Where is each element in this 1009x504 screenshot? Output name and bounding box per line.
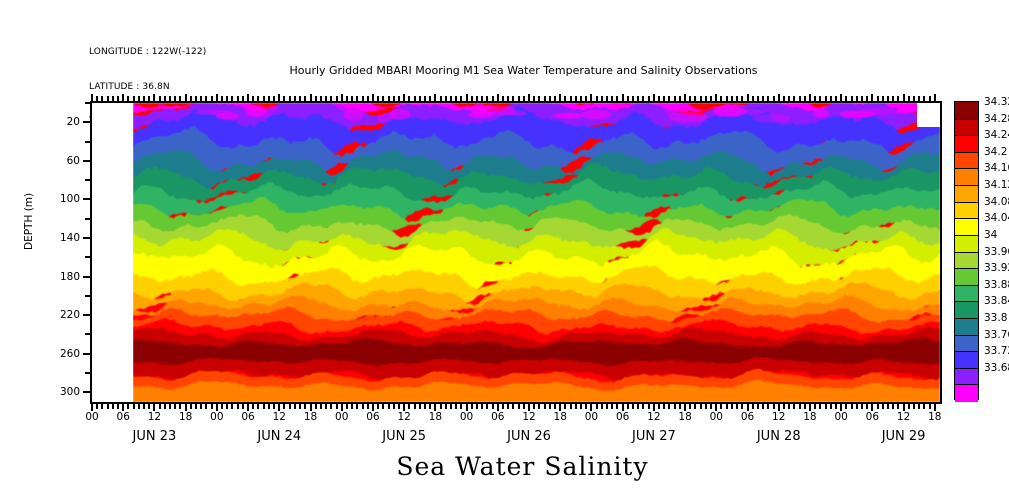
x-tick-minor	[804, 402, 806, 409]
y-axis-title: DEPTH (m)	[23, 193, 35, 250]
surface-low-salinity-patch	[217, 113, 240, 120]
colorbar-separator	[955, 318, 978, 319]
x-tick-minor	[897, 402, 899, 409]
x-tick-top	[450, 96, 452, 103]
x-tick-top	[257, 96, 259, 103]
x-tick-top	[91, 94, 93, 103]
x-tick-major	[153, 402, 155, 411]
x-tick-top	[840, 94, 842, 103]
x-tick-top	[762, 96, 764, 103]
x-tick-top	[538, 96, 540, 103]
x-tick-top	[179, 96, 181, 103]
x-tick-minor	[606, 402, 608, 409]
x-tick-minor	[731, 402, 733, 409]
x-tick-major	[247, 402, 249, 411]
x-tick-top	[507, 96, 509, 103]
x-tick-minor	[835, 402, 837, 409]
x-tick-top	[934, 94, 936, 103]
y-tick-minor	[85, 141, 92, 143]
x-tick-top	[96, 96, 98, 103]
x-tick-major	[684, 402, 686, 411]
x-tick-top	[637, 96, 639, 103]
x-tick-top	[304, 96, 306, 103]
x-tick-top	[367, 96, 369, 103]
x-tick-top	[773, 96, 775, 103]
y-tick-major	[83, 391, 92, 393]
x-tick-top	[434, 94, 436, 103]
x-tick-minor	[408, 402, 410, 409]
longitude-text: LONGITUDE : 122W(-122)	[89, 47, 206, 59]
x-tick-minor	[694, 402, 696, 409]
y-tick-label: 140	[60, 232, 80, 244]
x-tick-top	[575, 96, 577, 103]
x-tick-minor	[450, 402, 452, 409]
x-tick-minor	[642, 402, 644, 409]
x-tick-minor	[908, 402, 910, 409]
x-tick-top	[263, 96, 265, 103]
x-tick-top	[221, 96, 223, 103]
x-tick-major	[715, 402, 717, 411]
x-tick-minor	[866, 402, 868, 409]
x-tick-top	[414, 96, 416, 103]
colorbar-separator	[955, 268, 978, 269]
x-tick-top	[892, 96, 894, 103]
x-tick-top	[174, 96, 176, 103]
y-tick-minor	[85, 218, 92, 220]
x-tick-minor	[674, 402, 676, 409]
x-tick-minor	[257, 402, 259, 409]
x-tick-top	[903, 94, 905, 103]
x-tick-top	[455, 96, 457, 103]
x-tick-minor	[362, 402, 364, 409]
colorbar-separator	[955, 301, 978, 302]
x-tick-top	[882, 96, 884, 103]
colorbar-band	[955, 335, 978, 352]
x-tick-top	[897, 96, 899, 103]
chart-title: Hourly Gridded MBARI Mooring M1 Sea Wate…	[0, 64, 1009, 77]
x-tick-top	[929, 96, 931, 103]
x-tick-top	[601, 96, 603, 103]
x-tick-top	[408, 96, 410, 103]
x-tick-top	[793, 96, 795, 103]
x-tick-top	[720, 96, 722, 103]
x-tick-top	[804, 96, 806, 103]
x-tick-top	[289, 96, 291, 103]
x-tick-minor	[237, 402, 239, 409]
x-tick-label: 12	[772, 411, 785, 423]
y-tick-label: 100	[60, 193, 80, 205]
x-tick-label: 00	[460, 411, 473, 423]
colorbar-tick-label: 34.24	[984, 129, 1009, 141]
x-tick-minor	[101, 402, 103, 409]
x-tick-top	[346, 96, 348, 103]
x-tick-top	[294, 96, 296, 103]
x-tick-minor	[195, 402, 197, 409]
x-tick-minor	[705, 402, 707, 409]
x-tick-top	[668, 96, 670, 103]
colorbar-band	[955, 152, 978, 169]
x-tick-top	[674, 96, 676, 103]
x-tick-major	[778, 402, 780, 411]
colorbar-band	[955, 351, 978, 368]
x-tick-top	[419, 96, 421, 103]
x-tick-minor	[773, 402, 775, 409]
x-tick-top	[429, 96, 431, 103]
colorbar-separator	[955, 351, 978, 352]
colorbar-separator	[955, 335, 978, 336]
x-tick-label: 00	[85, 411, 98, 423]
x-tick-top	[622, 94, 624, 103]
x-tick-minor	[799, 402, 801, 409]
x-tick-major	[934, 402, 936, 411]
colorbar-tick-label: 34	[984, 229, 997, 241]
y-tick-label: 220	[60, 309, 80, 321]
x-tick-top	[101, 96, 103, 103]
x-tick-minor	[242, 402, 244, 409]
x-tick-minor	[294, 402, 296, 409]
x-tick-label: 00	[834, 411, 847, 423]
x-tick-major	[871, 402, 873, 411]
variable-title-text: Sea Water Salinity	[396, 452, 648, 481]
x-tick-top	[424, 96, 426, 103]
x-tick-minor	[918, 402, 920, 409]
x-tick-top	[741, 96, 743, 103]
x-tick-label: 12	[148, 411, 161, 423]
x-day-label: JUN 27	[632, 429, 676, 444]
colorbar-tick-label: 33.72	[984, 345, 1009, 357]
x-tick-top	[726, 96, 728, 103]
x-tick-label: 18	[304, 411, 317, 423]
x-tick-minor	[554, 402, 556, 409]
x-tick-minor	[658, 402, 660, 409]
x-tick-top	[377, 96, 379, 103]
x-tick-minor	[455, 402, 457, 409]
x-tick-top	[372, 94, 374, 103]
y-tick-minor	[85, 179, 92, 181]
x-tick-minor	[320, 402, 322, 409]
x-tick-top	[835, 96, 837, 103]
x-tick-label: 12	[897, 411, 910, 423]
x-tick-top	[231, 96, 233, 103]
x-tick-minor	[486, 402, 488, 409]
x-tick-minor	[476, 402, 478, 409]
x-day-label: JUN 28	[757, 429, 801, 444]
surface-low-salinity-patch	[744, 109, 763, 115]
x-tick-top	[497, 94, 499, 103]
x-tick-top	[356, 96, 358, 103]
x-tick-minor	[96, 402, 98, 409]
x-tick-minor	[632, 402, 634, 409]
x-tick-minor	[523, 402, 525, 409]
x-tick-top	[512, 96, 514, 103]
x-tick-minor	[138, 402, 140, 409]
x-tick-top	[757, 96, 759, 103]
surface-low-salinity-patch	[668, 112, 708, 123]
x-tick-top	[268, 96, 270, 103]
colorbar-separator	[955, 235, 978, 236]
x-tick-top	[684, 94, 686, 103]
x-tick-minor	[336, 402, 338, 409]
x-tick-minor	[388, 402, 390, 409]
x-tick-minor	[814, 402, 816, 409]
colorbar-tick-label: 34.16	[984, 162, 1009, 174]
x-tick-minor	[304, 402, 306, 409]
x-tick-top	[809, 94, 811, 103]
x-tick-minor	[736, 402, 738, 409]
x-tick-minor	[544, 402, 546, 409]
x-tick-major	[840, 402, 842, 411]
surface-low-salinity-patch	[554, 113, 585, 119]
surface-low-salinity-patch	[245, 111, 273, 118]
x-tick-label: 06	[366, 411, 379, 423]
x-tick-minor	[929, 402, 931, 409]
colorbar-tick-label: 34.08	[984, 196, 1009, 208]
y-tick-major	[83, 276, 92, 278]
variable-title: Sea Water Salinity	[0, 452, 1009, 481]
x-tick-top	[830, 96, 832, 103]
colorbar-band	[955, 119, 978, 136]
x-tick-major	[622, 402, 624, 411]
x-tick-top	[169, 96, 171, 103]
surface-low-salinity-patch	[158, 103, 166, 107]
x-tick-minor	[825, 402, 827, 409]
y-tick-label: 60	[67, 155, 80, 167]
colorbar-tick-label: 33.84	[984, 295, 1009, 307]
colorbar-tick-label: 33.96	[984, 246, 1009, 258]
x-tick-minor	[923, 402, 925, 409]
x-tick-top	[112, 96, 114, 103]
x-tick-minor	[861, 402, 863, 409]
x-tick-top	[851, 96, 853, 103]
x-tick-minor	[398, 402, 400, 409]
y-tick-minor	[85, 372, 92, 374]
x-tick-major	[809, 402, 811, 411]
x-tick-top	[648, 96, 650, 103]
x-tick-top	[825, 96, 827, 103]
y-tick-major	[83, 237, 92, 239]
x-tick-label: 00	[710, 411, 723, 423]
colorbar-tick-label: 34.12	[984, 179, 1009, 191]
x-tick-major	[122, 402, 124, 411]
colorbar-tick-label: 34.28	[984, 113, 1009, 125]
x-tick-top	[195, 96, 197, 103]
x-tick-minor	[700, 402, 702, 409]
colorbar-band	[955, 301, 978, 318]
x-tick-top	[341, 94, 343, 103]
x-tick-minor	[143, 402, 145, 409]
x-day-label: JUN 25	[382, 429, 426, 444]
x-tick-major	[91, 402, 93, 411]
x-tick-top	[299, 96, 301, 103]
colorbar-tick-label: 33.92	[984, 262, 1009, 274]
surface-low-salinity-patch	[268, 105, 278, 112]
x-tick-top	[403, 94, 405, 103]
colorbar-tick-label: 33.68	[984, 362, 1009, 374]
x-tick-minor	[174, 402, 176, 409]
x-tick-minor	[512, 402, 514, 409]
x-tick-minor	[596, 402, 598, 409]
x-tick-major	[528, 402, 530, 411]
x-tick-minor	[601, 402, 603, 409]
x-day-label: JUN 23	[133, 429, 177, 444]
colorbar-band	[955, 318, 978, 335]
x-tick-minor	[913, 402, 915, 409]
y-tick-label: 20	[67, 116, 80, 128]
y-tick-major	[83, 121, 92, 123]
x-tick-top	[570, 96, 572, 103]
x-tick-minor	[169, 402, 171, 409]
x-tick-minor	[419, 402, 421, 409]
surface-low-salinity-patch	[753, 114, 790, 122]
x-tick-label: 06	[741, 411, 754, 423]
x-tick-label: 18	[928, 411, 941, 423]
x-tick-minor	[133, 402, 135, 409]
x-tick-major	[310, 402, 312, 411]
x-tick-minor	[549, 402, 551, 409]
x-tick-top	[273, 96, 275, 103]
x-tick-minor	[148, 402, 150, 409]
x-tick-minor	[668, 402, 670, 409]
x-tick-top	[596, 96, 598, 103]
x-tick-top	[653, 94, 655, 103]
x-tick-minor	[741, 402, 743, 409]
x-tick-label: 00	[585, 411, 598, 423]
x-tick-minor	[377, 402, 379, 409]
y-tick-label: 180	[60, 271, 80, 283]
y-tick-minor	[85, 256, 92, 258]
x-tick-top	[564, 96, 566, 103]
colorbar-separator	[955, 252, 978, 253]
x-tick-major	[653, 402, 655, 411]
x-tick-top	[153, 94, 155, 103]
x-tick-top	[502, 96, 504, 103]
x-tick-top	[190, 96, 192, 103]
colorbar-band	[955, 368, 978, 385]
x-tick-top	[705, 96, 707, 103]
x-tick-top	[138, 96, 140, 103]
x-tick-minor	[637, 402, 639, 409]
x-tick-top	[164, 96, 166, 103]
colorbar-band	[955, 285, 978, 302]
x-tick-top	[362, 96, 364, 103]
x-day-label: JUN 26	[507, 429, 551, 444]
x-tick-top	[315, 96, 317, 103]
x-tick-minor	[283, 402, 285, 409]
x-tick-minor	[580, 402, 582, 409]
x-tick-top	[845, 96, 847, 103]
x-tick-top	[481, 96, 483, 103]
y-tick-minor	[85, 333, 92, 335]
x-tick-major	[559, 402, 561, 411]
x-tick-top	[393, 96, 395, 103]
x-tick-top	[471, 96, 473, 103]
x-tick-major	[216, 402, 218, 411]
colorbar-band	[955, 268, 978, 285]
x-tick-minor	[429, 402, 431, 409]
x-tick-top	[679, 96, 681, 103]
x-tick-top	[783, 96, 785, 103]
y-tick-major	[83, 198, 92, 200]
x-tick-top	[466, 94, 468, 103]
plot-inner	[92, 103, 940, 402]
colorbar-separator	[955, 202, 978, 203]
x-tick-top	[590, 94, 592, 103]
x-tick-minor	[710, 402, 712, 409]
x-tick-top	[148, 96, 150, 103]
x-tick-top	[185, 94, 187, 103]
x-tick-top	[518, 96, 520, 103]
x-tick-label: 00	[335, 411, 348, 423]
y-tick-minor	[85, 295, 92, 297]
x-tick-minor	[757, 402, 759, 409]
x-tick-minor	[367, 402, 369, 409]
x-tick-minor	[679, 402, 681, 409]
x-tick-top	[549, 96, 551, 103]
x-tick-minor	[819, 402, 821, 409]
x-tick-minor	[351, 402, 353, 409]
x-tick-minor	[892, 402, 894, 409]
x-tick-label: 18	[678, 411, 691, 423]
x-tick-label: 18	[554, 411, 567, 423]
x-tick-minor	[205, 402, 207, 409]
x-tick-minor	[887, 402, 889, 409]
x-tick-minor	[502, 402, 504, 409]
x-tick-top	[211, 96, 213, 103]
x-tick-top	[216, 94, 218, 103]
x-tick-top	[252, 96, 254, 103]
x-tick-top	[799, 96, 801, 103]
y-tick-major	[83, 160, 92, 162]
x-tick-minor	[440, 402, 442, 409]
x-tick-top	[544, 96, 546, 103]
x-tick-top	[752, 96, 754, 103]
x-tick-major	[185, 402, 187, 411]
latitude-text: LATITUDE : 36.8N	[89, 82, 206, 94]
x-tick-top	[528, 94, 530, 103]
x-tick-minor	[783, 402, 785, 409]
x-day-label: JUN 29	[882, 429, 926, 444]
x-tick-top	[632, 96, 634, 103]
x-tick-minor	[346, 402, 348, 409]
x-tick-minor	[575, 402, 577, 409]
x-tick-minor	[424, 402, 426, 409]
x-tick-minor	[382, 402, 384, 409]
surface-low-salinity-patch	[813, 109, 829, 118]
x-tick-top	[627, 96, 629, 103]
x-tick-minor	[788, 402, 790, 409]
x-tick-minor	[211, 402, 213, 409]
x-tick-minor	[164, 402, 166, 409]
x-tick-top	[856, 96, 858, 103]
x-tick-minor	[611, 402, 613, 409]
colorbar-band	[955, 102, 978, 119]
x-tick-minor	[570, 402, 572, 409]
x-tick-top	[127, 96, 129, 103]
x-tick-minor	[414, 402, 416, 409]
x-tick-minor	[226, 402, 228, 409]
x-tick-top	[887, 96, 889, 103]
x-tick-top	[533, 96, 535, 103]
colorbar-band	[955, 384, 978, 401]
colorbar-separator	[955, 368, 978, 369]
x-tick-minor	[845, 402, 847, 409]
x-tick-label: 12	[522, 411, 535, 423]
x-tick-major	[497, 402, 499, 411]
x-tick-top	[476, 96, 478, 103]
x-tick-minor	[471, 402, 473, 409]
x-tick-top	[788, 96, 790, 103]
x-tick-top	[320, 96, 322, 103]
